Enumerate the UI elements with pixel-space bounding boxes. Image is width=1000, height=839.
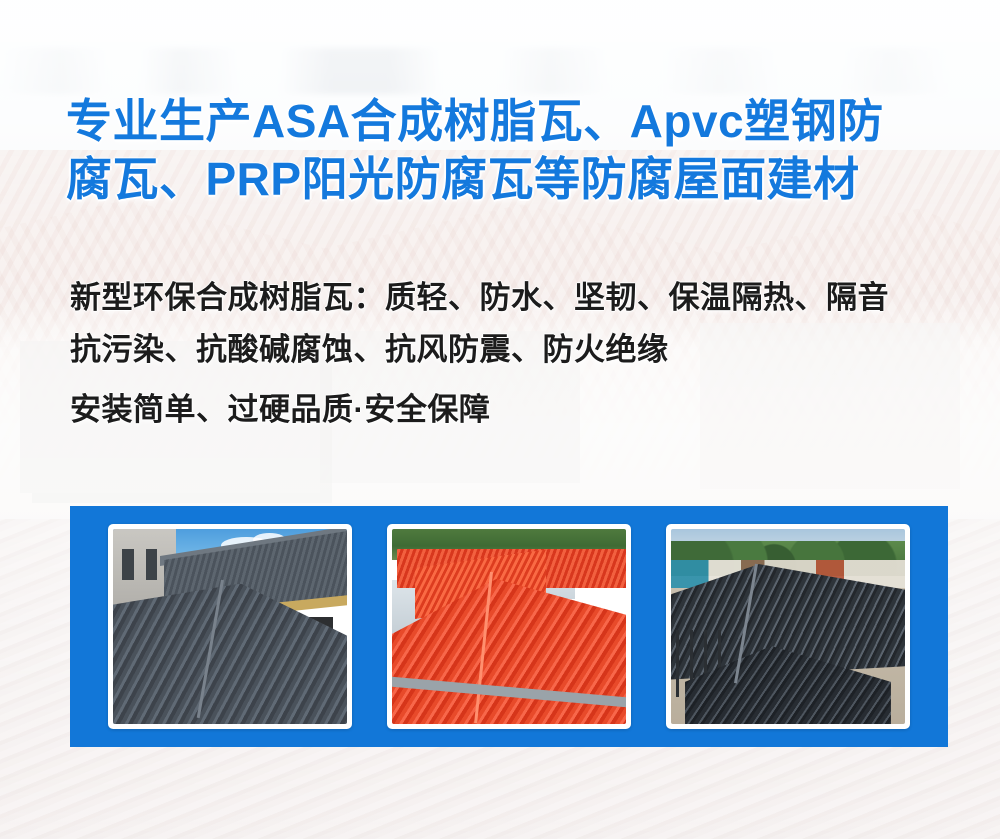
red-tile-roof-image: [392, 529, 626, 724]
photo1-window: [146, 549, 158, 580]
photo-gallery-panel: [70, 506, 948, 747]
dark-ribbed-roof-photo[interactable]: [666, 524, 910, 729]
grey-barrel-tile-roof-photo[interactable]: [108, 524, 352, 729]
grey-barrel-tile-roof-image: [113, 529, 347, 724]
subtitle-line-3: 安装简单、过硬品质·安全保障: [70, 384, 970, 436]
banner-content: 专业生产ASA合成树脂瓦、Apvc塑钢防 腐瓦、PRP阳光防腐瓦等防腐屋面建材 …: [0, 0, 1000, 839]
headline: 专业生产ASA合成树脂瓦、Apvc塑钢防 腐瓦、PRP阳光防腐瓦等防腐屋面建材: [66, 92, 956, 208]
subtitle-line-2: 抗污染、抗酸碱腐蚀、抗风防震、防火绝缘: [70, 324, 970, 376]
photo1-window: [122, 549, 134, 580]
subtitle-block: 新型环保合成树脂瓦：质轻、防水、坚韧、保温隔热、隔音 抗污染、抗酸碱腐蚀、抗风防…: [70, 272, 970, 436]
product-banner: 专业生产ASA合成树脂瓦、Apvc塑钢防 腐瓦、PRP阳光防腐瓦等防腐屋面建材 …: [0, 0, 1000, 839]
dark-ribbed-roof-image: [671, 529, 905, 724]
subtitle-line-1: 新型环保合成树脂瓦：质轻、防水、坚韧、保温隔热、隔音: [70, 272, 970, 324]
red-tile-roof-photo[interactable]: [387, 524, 631, 729]
